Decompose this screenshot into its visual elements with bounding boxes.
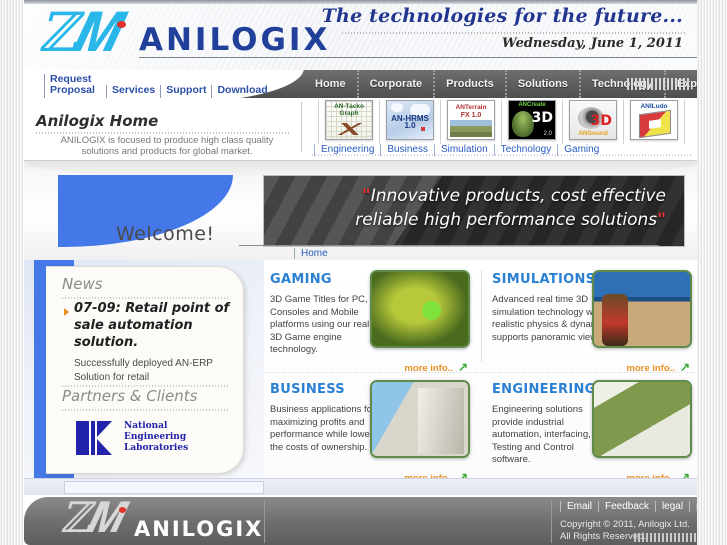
page-title-rule xyxy=(36,132,291,134)
partner-name: National Engineering Laboratories xyxy=(124,421,188,454)
nav-item-products[interactable]: Products xyxy=(435,70,507,98)
three-d-glyph-icon: 3D xyxy=(532,110,553,126)
anilogix-swirl-logo-icon: ℤ𝑴 xyxy=(38,4,148,64)
footer-divider-2 xyxy=(551,501,552,543)
footer-link-email[interactable]: Email xyxy=(560,501,598,512)
ludo-board-icon xyxy=(639,110,671,138)
terrain-icon xyxy=(450,120,492,137)
product-divider xyxy=(318,100,319,144)
product-label-line2: 1.0 xyxy=(404,121,415,130)
footer-link-legal[interactable]: legal xyxy=(655,501,689,512)
card-vertical-divider xyxy=(481,270,482,362)
arrow-up-right-icon: ↗ xyxy=(458,360,468,374)
more-info-label: more info.. xyxy=(404,363,453,374)
news-item-body: Successfully deployed AN-ERP Solution fo… xyxy=(74,357,232,385)
product-cell-gaming: ANILudo xyxy=(617,100,691,144)
site-footer: ℤ𝑴 ANILOGIX Email Feedback legal privacy… xyxy=(24,497,697,545)
product-divider xyxy=(440,100,441,144)
page-left-rail xyxy=(0,0,24,545)
anterrain-fx-icon[interactable]: ANTerrain FX 1.0 xyxy=(447,100,495,140)
partner-name-line3: Laboratories xyxy=(124,443,188,453)
logo-wordmark: ANILOGIX xyxy=(139,22,330,58)
product-label-line1: AN-Tacko xyxy=(334,103,364,110)
product-divider xyxy=(562,100,563,144)
logo-dot-icon xyxy=(117,21,126,28)
partner-logo[interactable]: National Engineering Laboratories xyxy=(76,419,226,461)
subheader-divider xyxy=(301,102,302,152)
footer-link-feedback[interactable]: Feedback xyxy=(598,501,655,512)
main-content: News 07-09: Retail point of sale automat… xyxy=(24,260,697,495)
gaming-alien-thumbnail[interactable] xyxy=(370,270,470,348)
product-label-line1: ANTerrain xyxy=(448,104,494,111)
nav-item-home[interactable]: Home xyxy=(304,70,359,98)
product-cell-engineering: AN-Tacko Graph xyxy=(312,100,373,144)
product-cell-business: AN-HRMS 1.0 xyxy=(373,100,434,144)
product-label-line1: ANCreate xyxy=(509,102,555,109)
news-item-title[interactable]: 07-09: Retail point of sale automation s… xyxy=(74,300,234,351)
header-divider xyxy=(139,57,697,58)
hero-image: "Innovative products, cost effective rel… xyxy=(263,175,685,247)
card-title: BUSINESS xyxy=(270,382,345,397)
partner-name-line2: Engineering xyxy=(124,432,186,442)
ancreate-3d-icon[interactable]: ANCreate 3D 2.0 xyxy=(508,100,556,140)
utility-link-download[interactable]: Download xyxy=(211,85,272,98)
hero-quote-line2: reliable high performance solutions xyxy=(355,210,657,230)
site-tagline: The technologies for the future... xyxy=(322,5,683,27)
product-divider xyxy=(623,100,624,144)
subheader-bottom-rule xyxy=(312,154,692,156)
nav-barcode-decoration xyxy=(627,78,689,90)
cloud-icon xyxy=(391,103,403,112)
footer-barcode-decoration xyxy=(634,533,696,542)
utility-link-support[interactable]: Support xyxy=(160,85,211,98)
engineering-circuit-thumbnail[interactable] xyxy=(592,380,692,458)
current-date: Wednesday, June 1, 2011 xyxy=(502,36,683,51)
footer-divider-1 xyxy=(264,501,265,543)
feature-card-grid: GAMING 3D Game Titles for PC, Consoles a… xyxy=(262,260,697,495)
ansound-3d-icon[interactable]: 3D ANSound xyxy=(569,100,617,140)
content-bottom-band xyxy=(24,478,697,495)
welcome-greeting: Welcome! xyxy=(116,223,215,245)
product-icon-row: AN-Tacko Graph AN-HRMS 1.0 xyxy=(312,100,691,144)
product-label-line2: FX 1.0 xyxy=(448,112,494,119)
tagline-dotted-rule xyxy=(342,32,687,34)
an-hrms-icon[interactable]: AN-HRMS 1.0 xyxy=(386,100,434,140)
more-info-label: more info.. xyxy=(626,363,675,374)
hero-quote-line1: Innovative products, cost effective xyxy=(371,186,666,206)
breadcrumb-rule xyxy=(239,245,659,246)
arrow-up-right-icon: ↗ xyxy=(680,360,690,374)
card-title: GAMING xyxy=(270,272,332,287)
news-heading: News xyxy=(62,275,103,293)
bullet-arrow-icon xyxy=(64,308,69,316)
quote-mark-open: " xyxy=(362,186,371,206)
aniludo-icon[interactable]: ANILudo xyxy=(630,100,678,140)
footer-links: Email Feedback legal privacy xyxy=(560,501,697,512)
copyright-line1: Copyright © 2011, Anilogix Ltd. xyxy=(560,519,690,530)
hero-quote: "Innovative products, cost effective rel… xyxy=(274,184,666,232)
product-cell-ansound: 3D ANSound xyxy=(556,100,617,144)
partner-name-line1: National xyxy=(124,421,167,431)
card-title: SIMULATIONS xyxy=(492,272,595,287)
feature-card-gaming: GAMING 3D Game Titles for PC, Consoles a… xyxy=(262,268,480,372)
subheader-section: Anilogix Home ANILOGIX is focused to pro… xyxy=(24,98,697,158)
utility-nav: Request Proposal Services Support Downlo… xyxy=(44,70,273,98)
product-label-line2: ANSound xyxy=(570,130,616,137)
red-square-icon xyxy=(421,127,425,131)
footer-logo-dot-icon xyxy=(119,507,126,513)
utility-link-request-proposal[interactable]: Request Proposal xyxy=(44,74,106,98)
page-title: Anilogix Home xyxy=(36,112,158,130)
national-engineering-labs-mark-icon xyxy=(76,421,116,455)
more-info-link-gaming[interactable]: more info..↗ xyxy=(404,360,468,374)
news-heading-rule xyxy=(62,297,228,299)
welcome-banner: Welcome! "Innovative products, cost effe… xyxy=(24,160,697,260)
page-root: ℤ𝑴 ANILOGIX The technologies for the fut… xyxy=(0,0,727,545)
utility-link-services[interactable]: Services xyxy=(106,85,160,98)
three-d-glyph-icon: 3D xyxy=(591,113,612,129)
card-title: ENGINEERING xyxy=(492,382,596,397)
feature-card-engineering: ENGINEERING Engineering solutions provid… xyxy=(484,378,697,482)
product-divider xyxy=(684,100,685,144)
navigation-strip: Request Proposal Services Support Downlo… xyxy=(24,70,697,98)
product-label-line2: Graph xyxy=(339,110,358,117)
simulation-cockpit-thumbnail[interactable] xyxy=(592,270,692,348)
page-right-rail xyxy=(697,0,727,545)
partners-heading: Partners & Clients xyxy=(62,387,197,405)
product-version: 2.0 xyxy=(544,131,552,137)
quote-mark-close: " xyxy=(657,210,666,230)
page-subtitle: ANILOGIX is focused to produce high clas… xyxy=(42,135,292,157)
footer-wordmark: ANILOGIX xyxy=(134,517,263,541)
feature-card-business: BUSINESS Business applications for maxim… xyxy=(262,378,480,482)
product-cell-technology: ANCreate 3D 2.0 xyxy=(495,100,556,144)
product-divider xyxy=(379,100,380,144)
business-building-thumbnail[interactable] xyxy=(370,380,470,458)
more-info-link-simulations[interactable]: more info..↗ xyxy=(626,360,690,374)
breadcrumb[interactable]: Home xyxy=(294,248,328,259)
product-cell-simulation: ANTerrain FX 1.0 xyxy=(434,100,495,144)
an-tacko-graph-icon[interactable]: AN-Tacko Graph xyxy=(325,100,373,140)
feature-card-simulations: SIMULATIONS Advanced real time 3D simula… xyxy=(484,268,697,372)
content-bottom-band-inner xyxy=(64,481,264,494)
news-panel: News 07-09: Retail point of sale automat… xyxy=(46,266,244,474)
product-divider xyxy=(501,100,502,144)
nav-item-corporate[interactable]: Corporate xyxy=(359,70,436,98)
graph-line-icon xyxy=(328,123,372,135)
footer-swirl-logo-icon: ℤ𝑴 xyxy=(60,497,117,541)
footer-link-privacy[interactable]: privacy xyxy=(689,501,697,512)
nav-item-solutions[interactable]: Solutions xyxy=(507,70,581,98)
partners-heading-rule xyxy=(62,409,228,411)
site-header: ℤ𝑴 ANILOGIX The technologies for the fut… xyxy=(24,0,697,70)
